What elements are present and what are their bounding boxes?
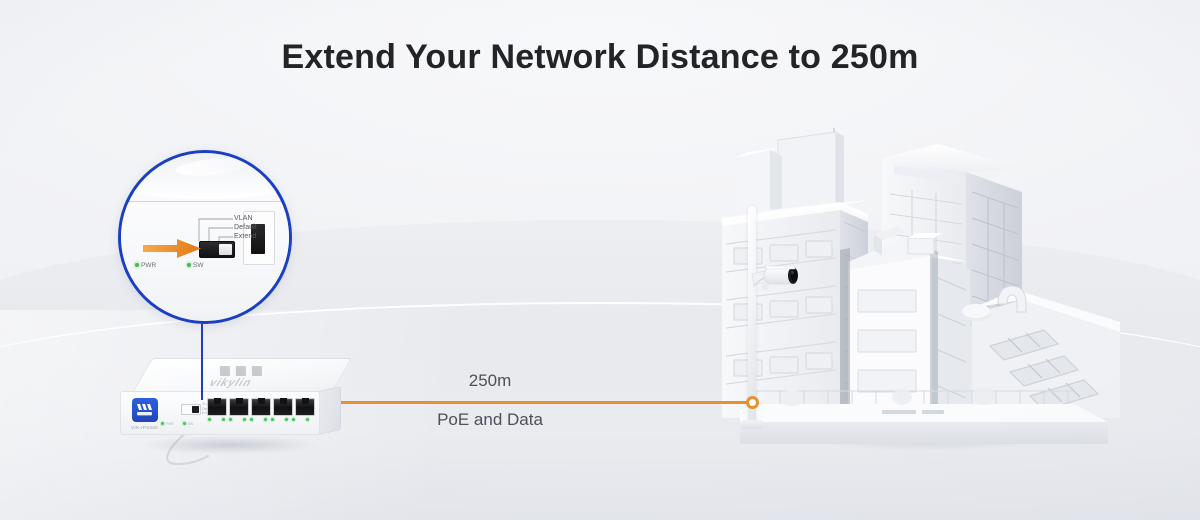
callout-leader-line [201, 318, 203, 400]
device-shadow [106, 432, 352, 458]
link-service-label: PoE and Data [400, 410, 580, 430]
callout-pwr-led: PWR [135, 263, 156, 270]
device-model-label: VIK-IPS200 [131, 425, 158, 430]
brand-badge [132, 398, 158, 422]
rj45-port-1[interactable] [207, 398, 227, 416]
ip-bullet-camera [750, 262, 806, 296]
rj45-port-2[interactable] [229, 398, 249, 416]
rj45-port-4[interactable] [273, 398, 293, 416]
rj45-port-3[interactable] [251, 398, 271, 416]
device-front-panel: VIK-IPS200 VLANDefaultExtend PWR SW [120, 391, 320, 435]
callout-label-leaders [121, 153, 289, 321]
camera-mounting-pole [748, 206, 756, 426]
pwr-led-label: PWR [166, 422, 173, 426]
svg-text:vikylin: vikylin [207, 376, 256, 388]
brand-logo-top: vikylin [201, 364, 299, 388]
page-title: Extend Your Network Distance to 250m [0, 38, 1200, 77]
sw-led-label: SW [188, 422, 193, 426]
callout-label-vlan: VLAN [234, 215, 253, 222]
callout-sw-led: SW [187, 263, 203, 270]
pwr-led [161, 422, 164, 425]
callout-label-extend: Extend [234, 233, 256, 240]
link-distance-label: 250m [400, 371, 580, 391]
scene-canvas: Extend Your Network Distance to 250m [0, 0, 1200, 520]
system-led-group: PWR SW [159, 422, 203, 427]
rj45-port-5[interactable] [295, 398, 315, 416]
dip-switch[interactable] [181, 404, 201, 415]
port-led-group [207, 417, 315, 423]
link-node-camera [746, 396, 759, 409]
device-side-panel [318, 386, 341, 435]
sw-led [183, 422, 186, 425]
poe-switch: vikylin VIK-IPS200 VLANDefaultExtend [112, 358, 340, 450]
pole-base [741, 420, 763, 429]
dip-switch-zoom-callout: VLAN Default Extend PWR SW [118, 150, 292, 324]
callout-label-default: Default [234, 224, 257, 231]
